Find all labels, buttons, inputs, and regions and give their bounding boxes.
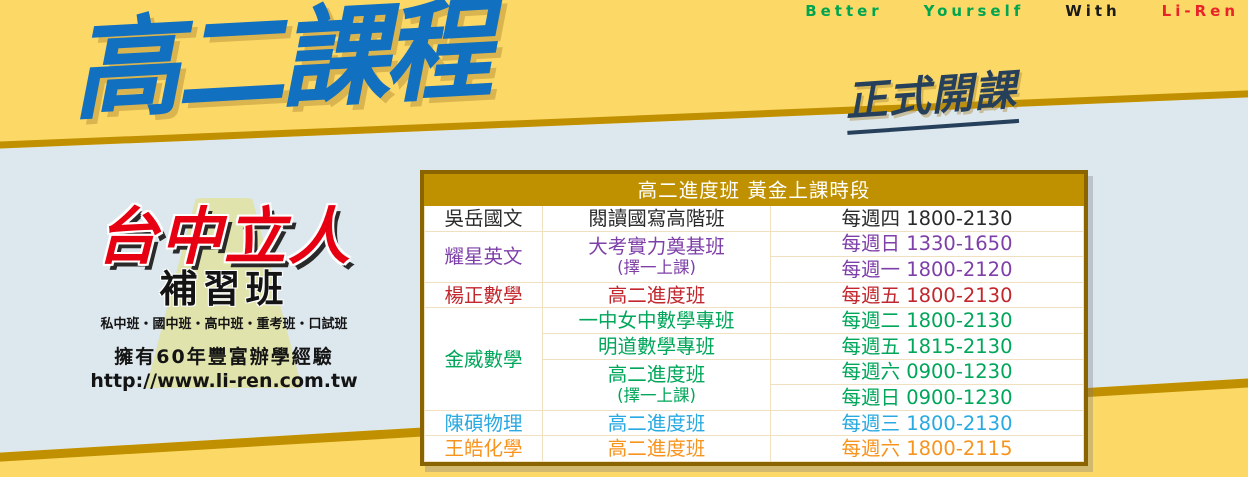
course-name: 一中女中數學專班 [578, 309, 734, 332]
cell-teacher: 耀星英文 [425, 231, 543, 282]
logo-class-list: 私中班・國中班・高中班・重考班・口試班 [34, 313, 414, 332]
course-name: 閱讀國寫高階班 [588, 207, 725, 230]
cell-course: 高二進度班 [543, 436, 771, 462]
cell-time: 每週一 1800-2120 [771, 257, 1084, 283]
table-row: 耀星英文大考實力奠基班(擇一上課)每週日 1330-1650 [425, 231, 1084, 257]
cell-time: 每週日 1330-1650 [771, 231, 1084, 257]
brand-logo: 台中立人 補習班 私中班・國中班・高中班・重考班・口試班 擁有60年豐富辦學經驗… [34, 198, 414, 430]
cell-time: 每週二 1800-2130 [771, 308, 1084, 334]
course-name: 高二進度班 [608, 363, 706, 386]
cell-time: 每週三 1800-2130 [771, 410, 1084, 436]
page-title: 高二課程 [69, 0, 491, 129]
tagline-word-with: With [1064, 2, 1122, 20]
banner-root: Better Yourself With Li-Ren 高二課程 正式開課 台中… [0, 0, 1248, 477]
tagline-word-yourself: Yourself [923, 2, 1026, 20]
cell-time: 每週四 1800-2130 [771, 206, 1084, 232]
logo-name: 台中立人 [34, 198, 414, 268]
headline-text: 高二課程 [69, 0, 491, 129]
cell-time: 每週六 0900-1230 [771, 359, 1084, 385]
course-name: 高二進度班 [608, 437, 706, 460]
schedule-card: 高二進度班 黃金上課時段 吳岳國文閱讀國寫高階班每週四 1800-2130耀星英… [420, 170, 1088, 466]
table-row: 吳岳國文閱讀國寫高階班每週四 1800-2130 [425, 206, 1084, 232]
cell-time: 每週五 1815-2130 [771, 333, 1084, 359]
cell-course: 高二進度班 [543, 282, 771, 308]
table-row: 楊正數學高二進度班每週五 1800-2130 [425, 282, 1084, 308]
tagline-word-better: Better [804, 2, 884, 20]
table-header-row: 高二進度班 黃金上課時段 [425, 175, 1084, 206]
course-name: 大考實力奠基班 [588, 235, 725, 258]
cell-time: 每週五 1800-2130 [771, 282, 1084, 308]
cell-teacher: 金威數學 [425, 308, 543, 410]
logo-subname: 補習班 [34, 270, 414, 308]
course-name: 高二進度班 [608, 284, 706, 307]
logo-experience: 擁有60年豐富辦學經驗 [34, 346, 414, 370]
cell-teacher: 陳碩物理 [425, 410, 543, 436]
cell-course: 高二進度班 [543, 410, 771, 436]
schedule-body: 吳岳國文閱讀國寫高階班每週四 1800-2130耀星英文大考實力奠基班(擇一上課… [425, 206, 1084, 462]
cell-teacher: 楊正數學 [425, 282, 543, 308]
table-row: 王皓化學高二進度班每週六 1800-2115 [425, 436, 1084, 462]
course-name: 高二進度班 [608, 412, 706, 435]
cell-course: 大考實力奠基班(擇一上課) [543, 231, 771, 282]
course-note: (擇一上課) [547, 386, 766, 405]
course-note: (擇一上課) [547, 258, 766, 277]
schedule-table: 高二進度班 黃金上課時段 吳岳國文閱讀國寫高階班每週四 1800-2130耀星英… [424, 174, 1084, 462]
cell-course: 明道數學專班 [543, 333, 771, 359]
cell-course: 高二進度班(擇一上課) [543, 359, 771, 410]
cell-teacher: 吳岳國文 [425, 206, 543, 232]
table-row: 陳碩物理高二進度班每週三 1800-2130 [425, 410, 1084, 436]
tagline-word-liren: Li-Ren [1161, 2, 1240, 20]
course-name: 明道數學專班 [598, 335, 715, 358]
cell-time: 每週六 1800-2115 [771, 436, 1084, 462]
cell-course: 閱讀國寫高階班 [543, 206, 771, 232]
cell-time: 每週日 0900-1230 [771, 385, 1084, 411]
cell-course: 一中女中數學專班 [543, 308, 771, 334]
logo-website-url[interactable]: http://www.li-ren.com.tw [34, 370, 414, 394]
cell-teacher: 王皓化學 [425, 436, 543, 462]
table-row: 金威數學一中女中數學專班每週二 1800-2130 [425, 308, 1084, 334]
schedule-title: 高二進度班 黃金上課時段 [425, 175, 1084, 206]
status-badge: 正式開課 [843, 56, 1019, 135]
